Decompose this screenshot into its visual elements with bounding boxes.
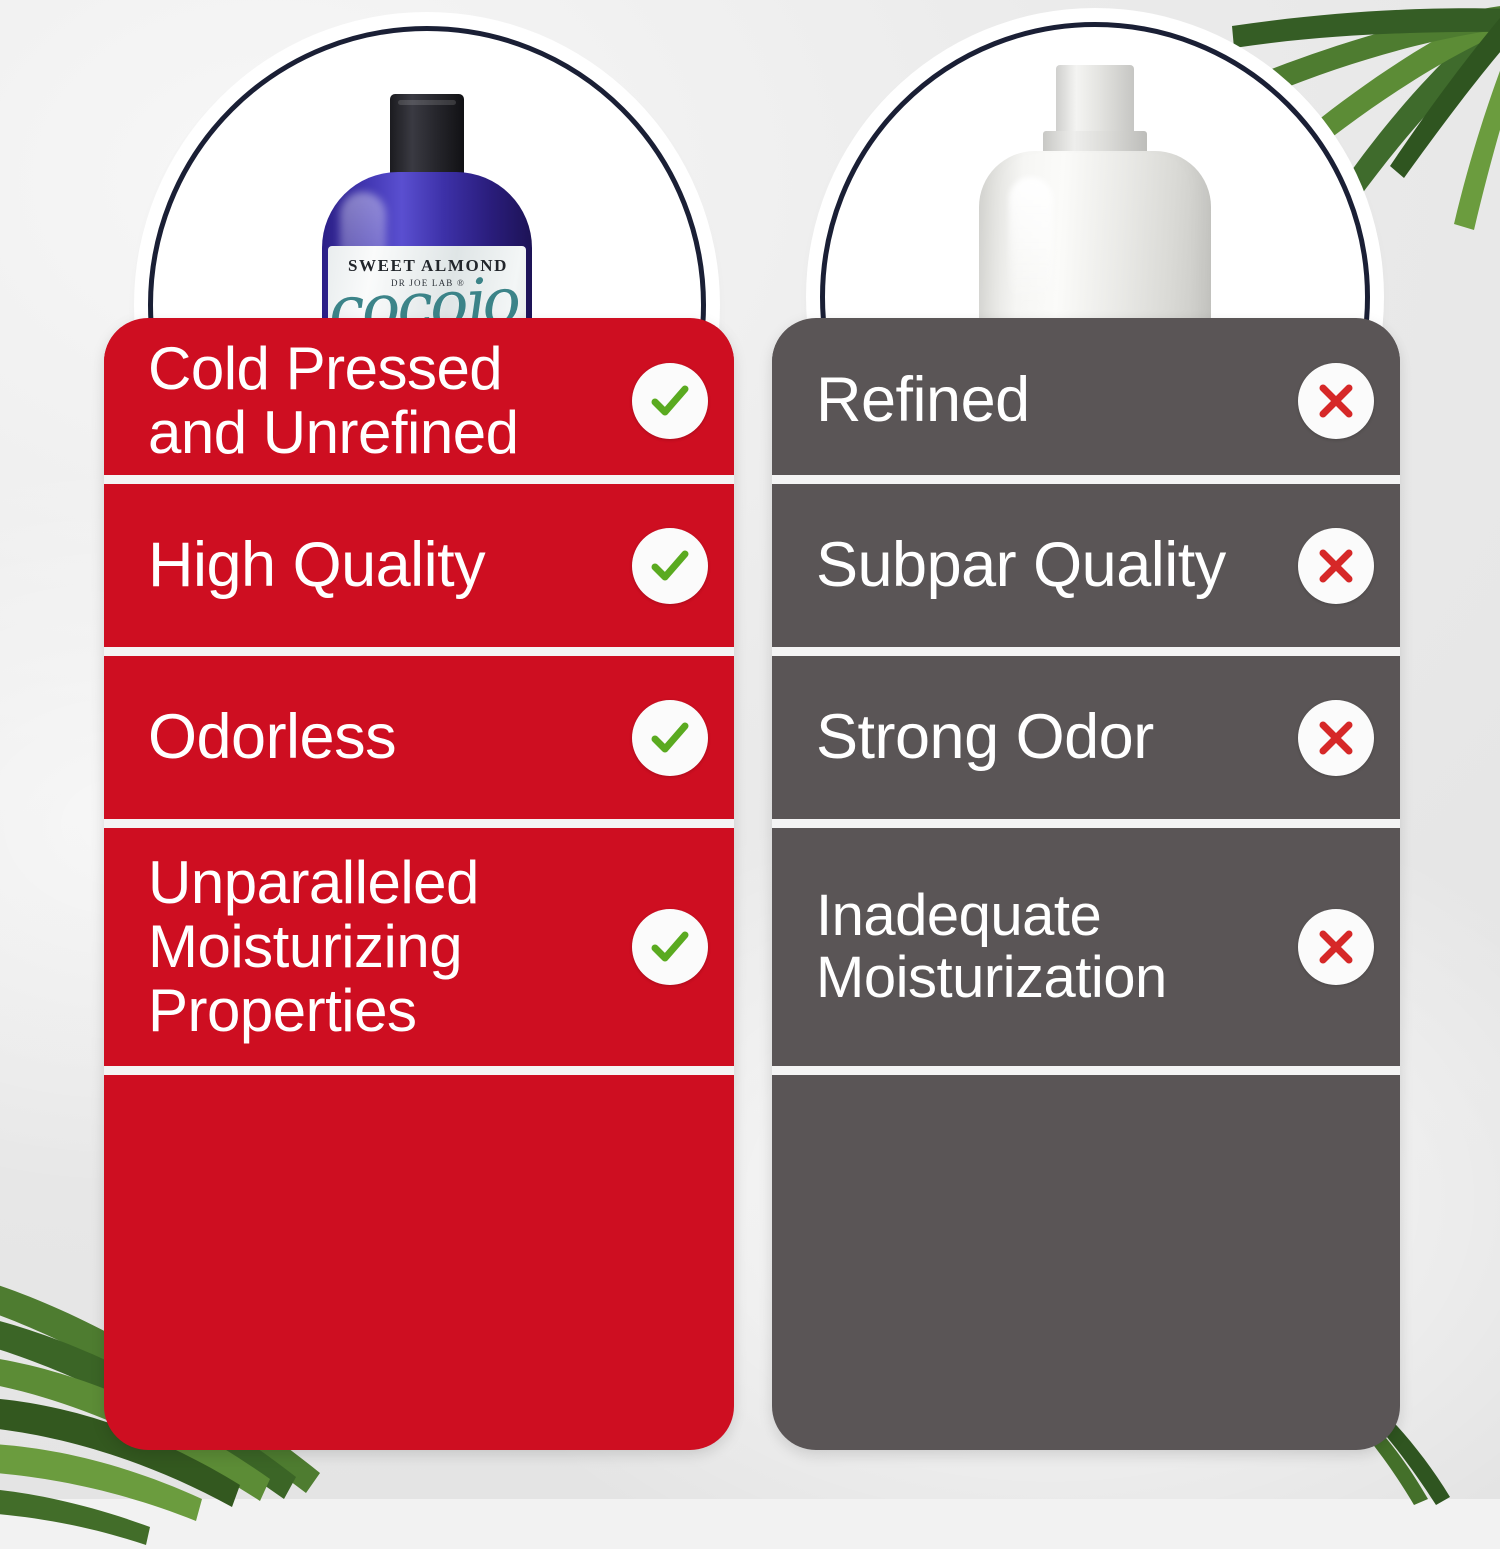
feature-label: Strong Odor: [816, 704, 1284, 771]
row-separator: [772, 819, 1400, 828]
check-icon: [632, 528, 708, 604]
feature-label: Inadequate Moisturization: [816, 885, 1284, 1009]
feature-row: Unparalleled Moisturizing Properties: [104, 828, 734, 1066]
row-separator: [104, 647, 734, 656]
row-separator: [772, 475, 1400, 484]
row-separator: [104, 475, 734, 484]
feature-label: Refined: [816, 367, 1284, 434]
check-icon: [632, 700, 708, 776]
check-icon: [632, 363, 708, 439]
feature-row: [104, 1075, 734, 1170]
feature-row-list: RefinedSubpar QualityStrong OdorInadequa…: [772, 318, 1400, 1450]
comparison-column-others: RefinedSubpar QualityStrong OdorInadequa…: [772, 318, 1400, 1450]
feature-row: Inadequate Moisturization: [772, 828, 1400, 1066]
row-separator: [772, 1066, 1400, 1075]
feature-row: Cold Pressed and Unrefined: [104, 327, 734, 475]
feature-row: Refined: [772, 327, 1400, 475]
bottle-cap-icon: [1056, 65, 1134, 139]
feature-row: Odorless: [104, 656, 734, 819]
feature-row: Subpar Quality: [772, 484, 1400, 647]
cross-icon: [1298, 363, 1374, 439]
row-separator: [104, 819, 734, 828]
cross-icon: [1298, 528, 1374, 604]
feature-row: High Quality: [104, 484, 734, 647]
cross-icon: [1298, 700, 1374, 776]
row-separator: [104, 1066, 734, 1075]
cross-icon: [1298, 909, 1374, 985]
feature-row-list: Cold Pressed and UnrefinedHigh QualityOd…: [104, 318, 734, 1450]
feature-row: Strong Odor: [772, 656, 1400, 819]
bottle-highlight: [1009, 177, 1053, 307]
feature-label: High Quality: [148, 532, 618, 599]
feature-label: Odorless: [148, 704, 618, 771]
check-icon: [632, 909, 708, 985]
feature-label: Subpar Quality: [816, 532, 1284, 599]
comparison-column-cocojojo: Cold Pressed and UnrefinedHigh QualityOd…: [104, 318, 734, 1450]
feature-label: Cold Pressed and Unrefined: [148, 337, 618, 465]
feature-label: Unparalleled Moisturizing Properties: [148, 851, 618, 1044]
feature-row: [772, 1075, 1400, 1170]
row-separator: [772, 647, 1400, 656]
